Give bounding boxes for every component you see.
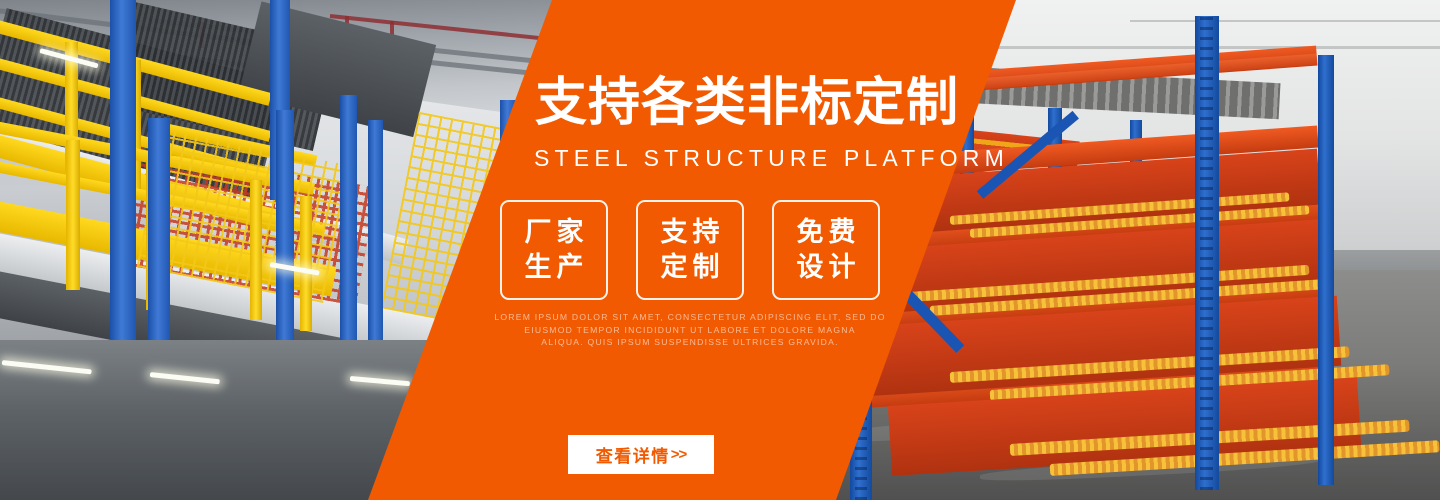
view-details-button[interactable]: 查看详情 >>: [568, 435, 714, 474]
view-details-label: 查看详情: [596, 442, 670, 467]
banner-content: 支持各类非标定制 STEEL STRUCTURE PLATFORM 厂家 生产 …: [0, 0, 1440, 500]
badge-manufacturer[interactable]: 厂家 生产: [500, 200, 608, 300]
description-line-1: LOREM IPSUM DOLOR SIT AMET, CONSECTETUR …: [470, 311, 910, 324]
page-subtitle: STEEL STRUCTURE PLATFORM: [534, 144, 934, 172]
description-text: LOREM IPSUM DOLOR SIT AMET, CONSECTETUR …: [470, 311, 910, 349]
badge-line-2: 设计: [792, 251, 861, 284]
feature-badges: 厂家 生产 支持 定制 免费 设计: [500, 200, 880, 300]
chevron-right-double-icon: >>: [671, 446, 687, 463]
product-banner: 支持各类非标定制 STEEL STRUCTURE PLATFORM 厂家 生产 …: [0, 0, 1440, 500]
page-title: 支持各类非标定制: [535, 74, 965, 132]
description-line-3: ALIQUA. QUIS IPSUM SUSPENDISSE ULTRICES …: [470, 336, 910, 349]
badge-line-2: 生产: [520, 251, 589, 284]
badge-customization[interactable]: 支持 定制: [636, 200, 744, 300]
badge-line-1: 厂家: [520, 216, 589, 249]
badge-line-1: 免费: [792, 216, 861, 249]
badge-line-1: 支持: [656, 216, 725, 249]
description-line-2: EIUSMOD TEMPOR INCIDIDUNT UT LABORE ET D…: [470, 324, 910, 337]
badge-line-2: 定制: [656, 251, 725, 284]
badge-free-design[interactable]: 免费 设计: [772, 200, 880, 300]
